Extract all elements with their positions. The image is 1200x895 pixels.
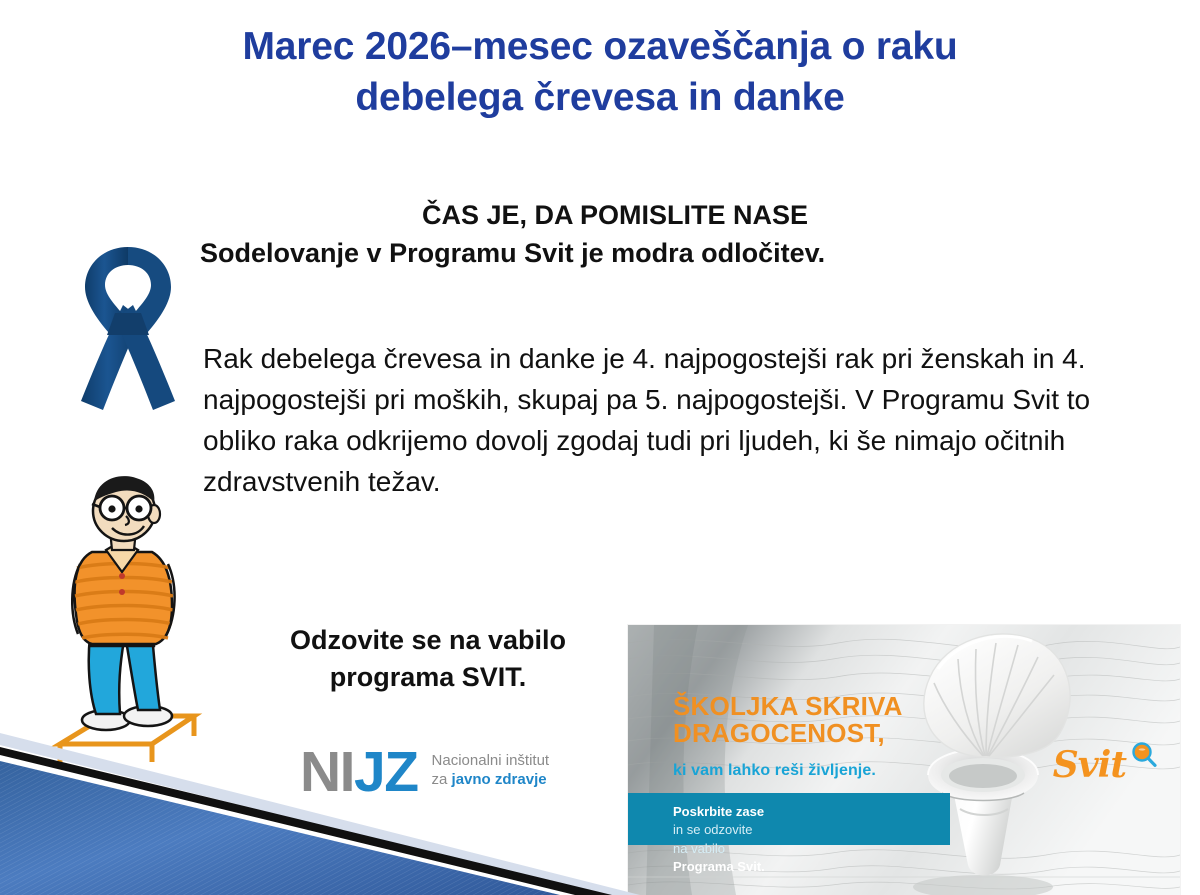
svit-logo[interactable]: Svit	[1053, 747, 1158, 783]
band-text-bold-2: Programa Svit.	[673, 859, 765, 874]
nijz-tagline-line-1: Nacionalni inštitut	[432, 751, 550, 770]
banner-headline-line-2: DRAGOCENOST,	[673, 720, 903, 747]
nijz-logo: NIJZ Nacionalni inštitut za javno zdravj…	[300, 745, 549, 799]
nijz-tagline-prefix: za	[432, 771, 452, 788]
cartoon-man-icon	[44, 468, 214, 768]
nijz-tagline-line-2: za javno zdravje	[432, 770, 550, 789]
banner-band-text: Poskrbite zase in se odzovite na vabilo …	[673, 803, 953, 877]
band-text-bold-1: Poskrbite zase	[673, 804, 764, 819]
banner-headline: ŠKOLJKA SKRIVA DRAGOCENOST,	[673, 693, 903, 747]
awareness-ribbon-icon	[63, 233, 193, 418]
page-title: Marec 2026–mesec ozaveščanja o raku debe…	[150, 22, 1050, 123]
slide-canvas: Marec 2026–mesec ozaveščanja o raku debe…	[0, 0, 1200, 895]
band-text-rest-2: na vabilo	[673, 840, 953, 858]
banner-subline: ki vam lahko reši življenje.	[673, 762, 876, 780]
band-text-rest-1: in se odzovite	[673, 821, 953, 839]
band-text-line-2: na vabilo Programa Svit.	[673, 840, 953, 877]
nijz-mark-jz: JZ	[354, 740, 418, 804]
lead-headline: ČAS JE, DA POMISLITE NASE Sodelovanje v …	[200, 196, 1160, 273]
nijz-wordmark: NIJZ	[300, 745, 418, 799]
band-text-line-1: Poskrbite zase in se odzovite	[673, 803, 953, 840]
cta-line-1: Odzovite se na vabilo	[233, 622, 623, 659]
lead-line-1: ČAS JE, DA POMISLITE NASE	[200, 196, 1160, 234]
nijz-tagline-bold: javno zdravje	[452, 771, 547, 788]
title-line-2: debelega črevesa in danke	[150, 73, 1050, 124]
banner-headline-line-1: ŠKOLJKA SKRIVA	[673, 693, 903, 720]
call-to-action: Odzovite se na vabilo programa SVIT.	[233, 622, 623, 697]
title-line-1: Marec 2026–mesec ozaveščanja o raku	[150, 22, 1050, 73]
magnifier-icon	[1130, 741, 1158, 769]
svit-wordmark: Svit	[1053, 747, 1126, 783]
nijz-tagline: Nacionalni inštitut za javno zdravje	[432, 751, 550, 793]
lead-line-2: Sodelovanje v Programu Svit je modra odl…	[200, 234, 1160, 272]
svit-campaign-banner[interactable]: ŠKOLJKA SKRIVA DRAGOCENOST, ki vam lahko…	[628, 625, 1180, 895]
cta-line-2: programa SVIT.	[233, 659, 623, 696]
body-paragraph: Rak debelega črevesa in danke je 4. najp…	[203, 338, 1163, 503]
nijz-mark-ni: NI	[300, 740, 354, 804]
